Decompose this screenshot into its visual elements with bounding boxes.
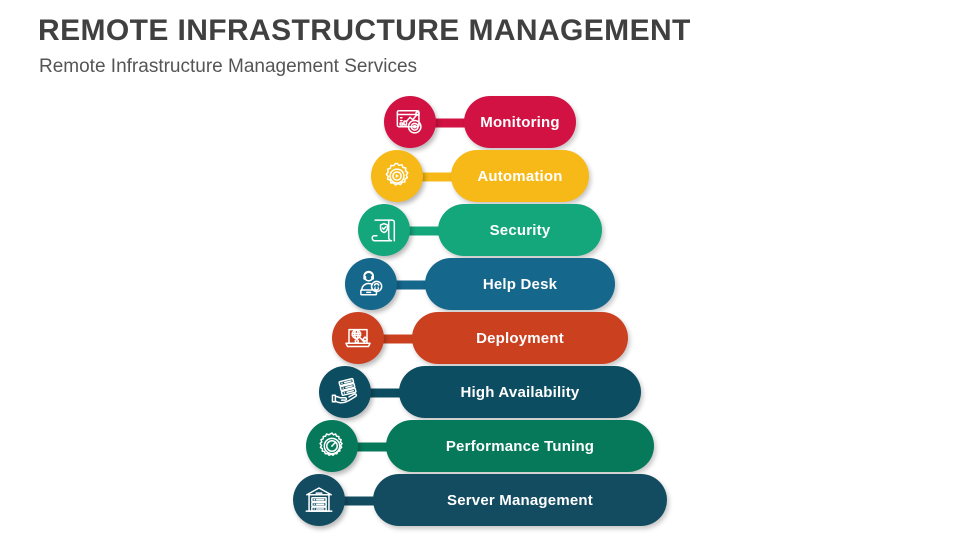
service-row[interactable]: Monitoring bbox=[0, 96, 960, 150]
service-pill[interactable]: Server Management bbox=[373, 474, 667, 526]
service-icon-badge[interactable] bbox=[293, 474, 345, 526]
service-row[interactable]: Help Desk bbox=[0, 258, 960, 312]
service-row[interactable]: Performance Tuning bbox=[0, 420, 960, 474]
gear-play-icon bbox=[382, 161, 412, 191]
service-pill[interactable]: Automation bbox=[451, 150, 589, 202]
service-icon-badge[interactable] bbox=[319, 366, 371, 418]
service-label: High Availability bbox=[461, 385, 580, 400]
page-subtitle: Remote Infrastructure Management Service… bbox=[39, 56, 918, 79]
service-icon-badge[interactable] bbox=[332, 312, 384, 364]
server-rack-building-icon bbox=[304, 485, 334, 515]
service-label: Monitoring bbox=[480, 115, 559, 130]
service-row[interactable]: Server Management bbox=[0, 474, 960, 528]
slide-header: REMOTE INFRASTRUCTURE MANAGEMENT Remote … bbox=[38, 14, 918, 78]
page-title: REMOTE INFRASTRUCTURE MANAGEMENT bbox=[38, 14, 918, 49]
support-agent-icon bbox=[356, 269, 386, 299]
service-label: Help Desk bbox=[483, 277, 557, 292]
slide-canvas: REMOTE INFRASTRUCTURE MANAGEMENT Remote … bbox=[0, 0, 960, 540]
service-row[interactable]: High Availability bbox=[0, 366, 960, 420]
service-label: Performance Tuning bbox=[446, 439, 594, 454]
hand-server-icon bbox=[330, 377, 360, 407]
service-pill[interactable]: Performance Tuning bbox=[386, 420, 654, 472]
monitoring-dashboard-icon bbox=[395, 107, 425, 137]
service-icon-badge[interactable] bbox=[371, 150, 423, 202]
service-pill[interactable]: Help Desk bbox=[425, 258, 615, 310]
service-icon-badge[interactable] bbox=[306, 420, 358, 472]
service-pill[interactable]: Deployment bbox=[412, 312, 628, 364]
service-label: Deployment bbox=[476, 331, 564, 346]
services-diagram: Monitoring Automation Security Help Desk bbox=[0, 93, 960, 540]
service-row[interactable]: Security bbox=[0, 204, 960, 258]
service-icon-badge[interactable] bbox=[345, 258, 397, 310]
service-pill[interactable]: Security bbox=[438, 204, 602, 256]
gear-gauge-icon bbox=[317, 431, 347, 461]
service-pill[interactable]: High Availability bbox=[399, 366, 641, 418]
service-label: Server Management bbox=[447, 493, 593, 508]
laptop-deploy-icon bbox=[343, 323, 373, 353]
service-label: Automation bbox=[477, 169, 562, 184]
service-row[interactable]: Automation bbox=[0, 150, 960, 204]
document-shield-icon bbox=[369, 215, 399, 245]
service-label: Security bbox=[490, 223, 551, 238]
service-row[interactable]: Deployment bbox=[0, 312, 960, 366]
service-pill[interactable]: Monitoring bbox=[464, 96, 576, 148]
service-icon-badge[interactable] bbox=[384, 96, 436, 148]
service-icon-badge[interactable] bbox=[358, 204, 410, 256]
